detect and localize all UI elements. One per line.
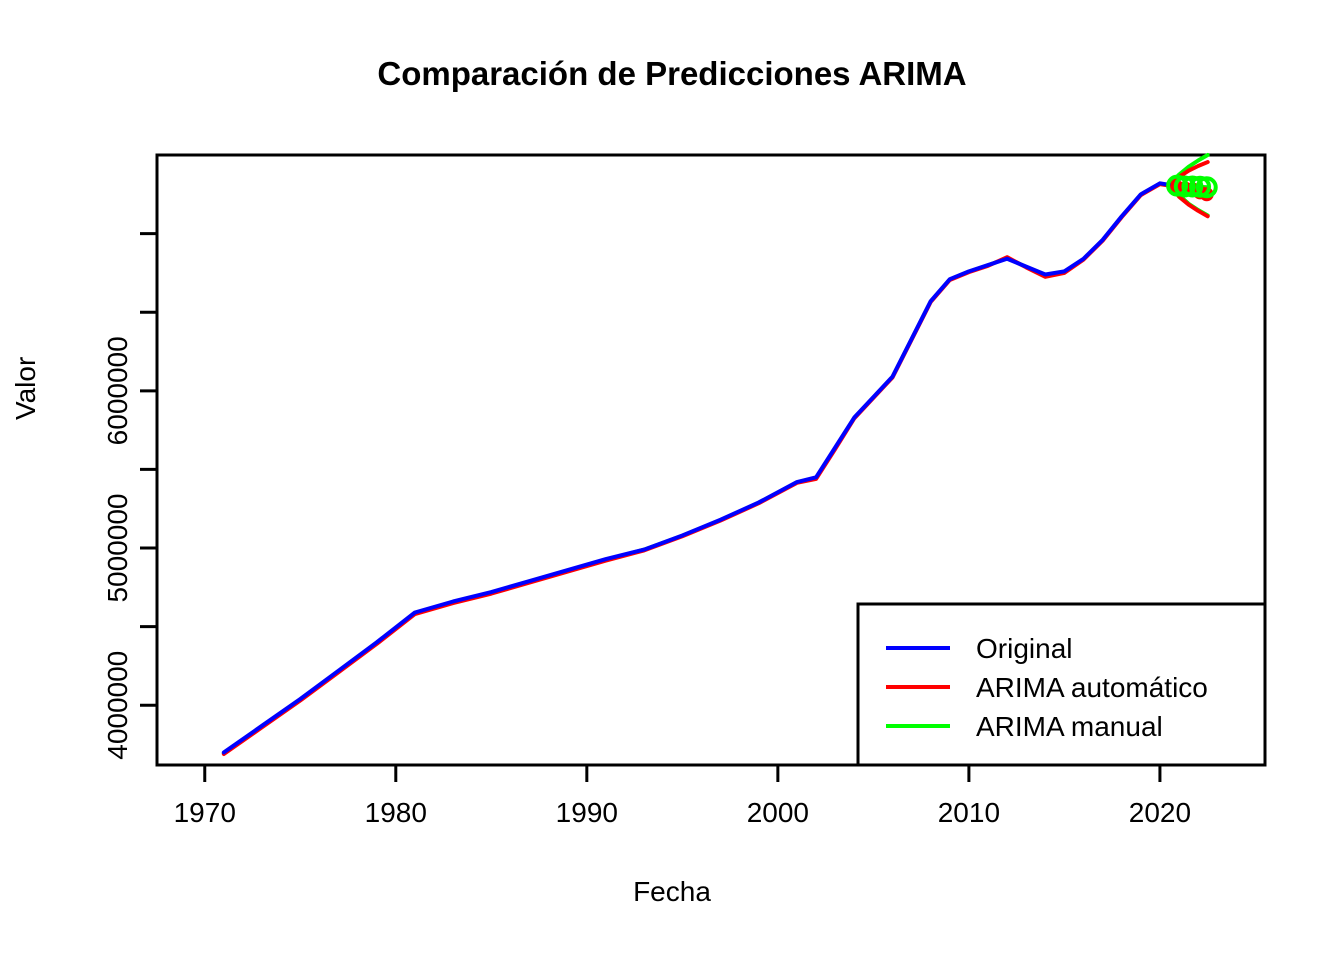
legend-label-0: Original [976,633,1072,664]
x-tick-label-1970: 1970 [174,797,236,828]
y-tick-label-6000000: 6000000 [102,336,133,445]
chart-container: Comparación de Predicciones ARIMA Valor … [0,0,1344,960]
legend: OriginalARIMA automáticoARIMA manual [858,604,1265,765]
legend-label-2: ARIMA manual [976,711,1163,742]
y-tick-label-4000000: 4000000 [102,651,133,760]
y-tick-label-5000000: 5000000 [102,494,133,603]
y-axis: 400000050000006000000 [102,226,157,760]
x-tick-label-1980: 1980 [365,797,427,828]
x-tick-label-1990: 1990 [556,797,618,828]
x-tick-label-2000: 2000 [747,797,809,828]
plot-svg: 197019801990200020102020 400000050000006… [0,0,1344,960]
x-tick-label-2010: 2010 [938,797,1000,828]
x-axis: 197019801990200020102020 [174,765,1191,828]
x-tick-label-2020: 2020 [1129,797,1191,828]
legend-label-1: ARIMA automático [976,672,1208,703]
